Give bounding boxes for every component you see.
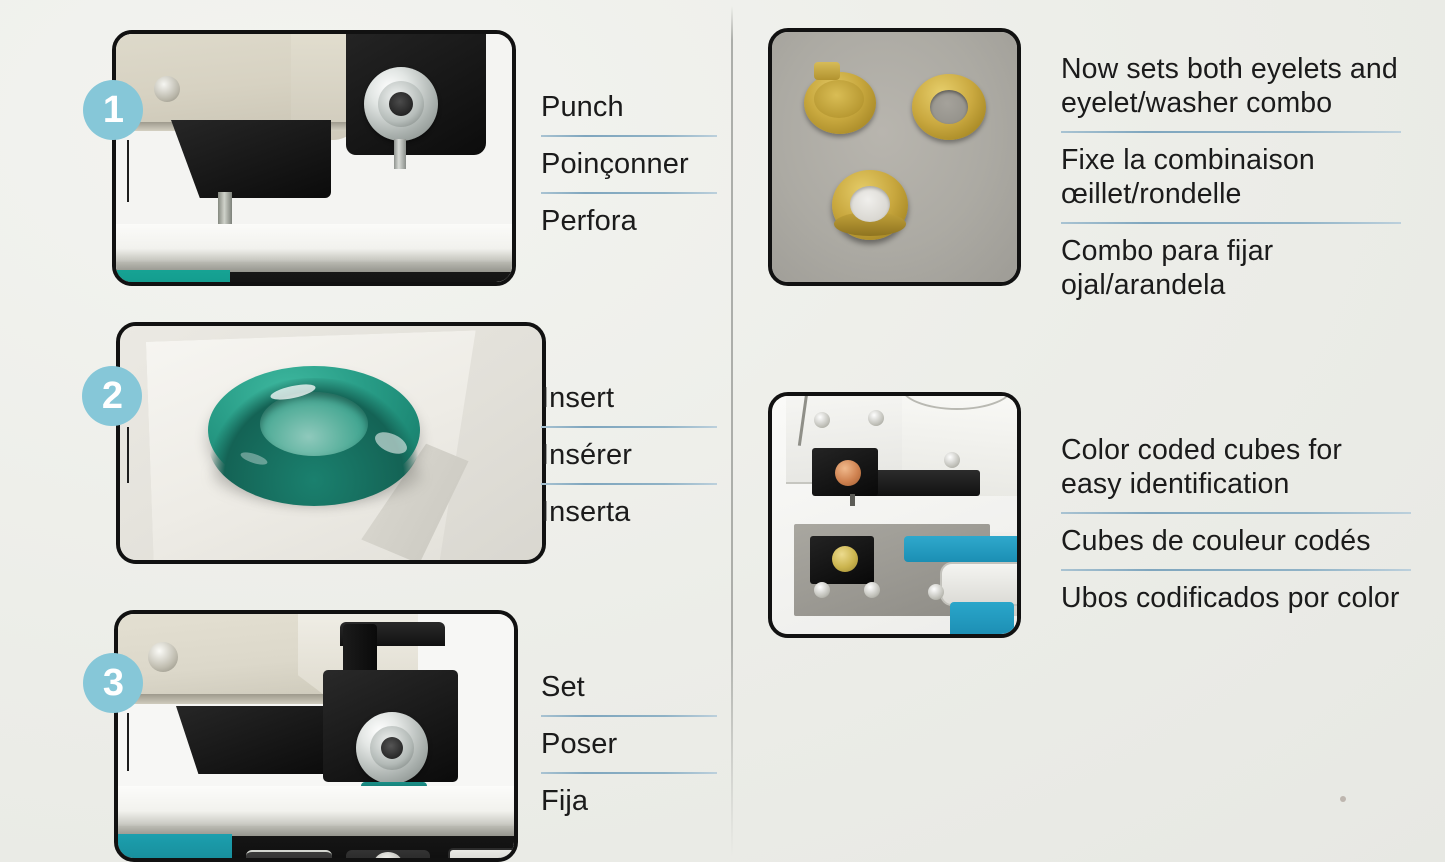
feature-1-labels: Now sets both eyelets and eyelet/washer … (1061, 52, 1401, 302)
feature-1-photo (768, 28, 1021, 286)
step-2-labels: Insert Insérer Inserta (541, 381, 717, 529)
paper-speck (1340, 796, 1346, 802)
step-3-badge: 3 (83, 653, 143, 713)
step-1-badge-stem (127, 140, 129, 202)
step-3-labels: Set Poser Fija (541, 670, 717, 818)
feature-2-labels: Color coded cubes for easy identificatio… (1061, 433, 1411, 615)
step-3-label-en: Set (541, 670, 717, 704)
step-2-badge-stem (127, 427, 129, 483)
step-3-photo (114, 610, 518, 862)
feature-2-label-es: Ubos codificados por color (1061, 581, 1411, 615)
step-1-label-es: Perfora (541, 204, 717, 238)
step-2-label-es: Inserta (541, 495, 717, 529)
step-1-label-fr: Poinçonner (541, 147, 717, 181)
step-1-labels: Punch Poinçonner Perfora (541, 90, 717, 238)
feature-2-label-fr: Cubes de couleur codés (1061, 524, 1411, 558)
column-divider (731, 6, 733, 856)
step-3-badge-stem (127, 713, 129, 771)
feature-1-label-es: Combo para fijar ojal/arandela (1061, 234, 1401, 302)
step-3-label-fr: Poser (541, 727, 717, 761)
step-1-badge: 1 (83, 80, 143, 140)
step-3-label-es: Fija (541, 784, 717, 818)
step-2-label-en: Insert (541, 381, 717, 415)
step-2-photo (116, 322, 546, 564)
step-1-photo (112, 30, 516, 286)
step-2-label-fr: Insérer (541, 438, 717, 472)
feature-2-label-en: Color coded cubes for easy identificatio… (1061, 433, 1411, 501)
feature-1-label-en: Now sets both eyelets and eyelet/washer … (1061, 52, 1401, 120)
feature-2-photo (768, 392, 1021, 638)
feature-1-label-fr: Fixe la combinaison œillet/rondelle (1061, 143, 1401, 211)
step-1-label-en: Punch (541, 90, 717, 124)
step-2-badge: 2 (82, 366, 142, 426)
instruction-sheet: 1 Punch Poinçonner Perfora 2 Insert (0, 0, 1445, 862)
